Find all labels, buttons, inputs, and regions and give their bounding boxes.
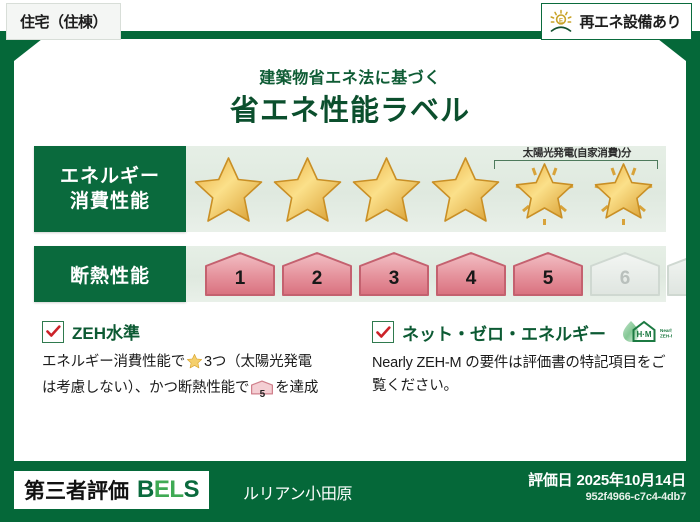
nearly-zeh-m-logo-icon: H·M Nearly ZEH-M bbox=[620, 319, 672, 345]
energy-performance-row-header: エネルギー 消費性能 bbox=[34, 146, 186, 232]
energy-performance-label-card: 住宅（住棟） E 再エネ設備あり 建築物省エネ法に基 bbox=[0, 0, 700, 522]
evaluation-id: 952f4966-c7c4-4db7 bbox=[586, 491, 686, 503]
building-name: ルリアン小田原 bbox=[243, 480, 352, 504]
criteria-zeh-standard: ZEH水準 エネルギー消費性能で3つ（太陽光発電は考慮しない）、かつ断熱性能で5… bbox=[42, 319, 352, 400]
criteria-nze-header: ネット・ゼロ・エネルギー H·M Nearly ZEH-M bbox=[372, 319, 672, 345]
criteria-nze-body: Nearly ZEH-M の要件は評価書の特記項目をご覧ください。 bbox=[372, 352, 672, 398]
checkbox-checked-icon bbox=[372, 321, 394, 343]
bels-jp-label: 第三者評価 bbox=[24, 475, 129, 505]
sun-solar-icon: E bbox=[548, 9, 574, 35]
label-sheet: 建築物省エネ法に基づく 省エネ性能ラベル エネルギー 消費性能 太陽光発電(自家… bbox=[14, 39, 686, 461]
star-filled bbox=[427, 152, 504, 226]
bels-letter-b: B bbox=[137, 476, 154, 503]
label-subtitle: 建築物省エネ法に基づく bbox=[14, 64, 686, 88]
criteria-zeh-text-2: 3つ（太陽光発電 bbox=[204, 354, 312, 370]
building-type-label: 住宅（住棟） bbox=[20, 11, 107, 32]
bels-third-party-box: 第三者評価 BELS bbox=[14, 471, 209, 509]
insulation-badge: 4 bbox=[435, 251, 507, 297]
renewable-equipment-pill: E 再エネ設備あり bbox=[541, 3, 692, 40]
renewable-equipment-label: 再エネ設備あり bbox=[579, 11, 681, 32]
criteria-zeh-header: ZEH水準 bbox=[42, 319, 352, 344]
star-filled bbox=[269, 152, 346, 226]
building-type-pill: 住宅（住棟） bbox=[6, 3, 121, 40]
bels-letter-s: S bbox=[184, 476, 200, 503]
star-filled bbox=[348, 152, 425, 226]
inline-insulation-badge-icon: 5 bbox=[251, 379, 273, 396]
insulation-badge-group: 1 2 3 4 bbox=[186, 246, 666, 302]
criteria-zeh-text-4: を達成 bbox=[275, 380, 318, 396]
bels-en-logo: BELS bbox=[137, 476, 199, 504]
evaluation-date: 評価日 2025年10月14日 bbox=[528, 469, 686, 490]
insulation-badge: 5 bbox=[512, 251, 584, 297]
label-title: 省エネ性能ラベル bbox=[14, 87, 686, 129]
checkbox-checked-icon bbox=[42, 321, 64, 343]
criteria-zeh-title: ZEH水準 bbox=[72, 319, 140, 344]
solar-contribution-bracket bbox=[494, 160, 658, 169]
criteria-net-zero-energy: ネット・ゼロ・エネルギー H·M Nearly ZEH-M bbox=[372, 319, 672, 398]
energy-performance-row: エネルギー 消費性能 太陽光発電(自家消費)分 bbox=[34, 146, 666, 232]
label-footer: 第三者評価 BELS ルリアン小田原 評価日 2025年10月14日 952f4… bbox=[0, 461, 700, 522]
star-filled bbox=[190, 152, 267, 226]
svg-text:Nearly: Nearly bbox=[660, 328, 672, 333]
insulation-performance-row-header: 断熱性能 bbox=[34, 246, 186, 302]
inline-star-icon bbox=[186, 353, 203, 377]
svg-text:E: E bbox=[559, 18, 563, 24]
energy-header-line2: 消費性能 bbox=[70, 189, 150, 214]
energy-performance-row-body: 太陽光発電(自家消費)分 bbox=[186, 146, 666, 232]
insulation-badge: 7 bbox=[666, 251, 700, 297]
energy-header-line1: エネルギー bbox=[60, 164, 160, 189]
insulation-header-label: 断熱性能 bbox=[70, 261, 150, 288]
insulation-performance-row: 断熱性能 bbox=[34, 246, 666, 302]
criteria-zeh-text-3: は考慮しない）、かつ断熱性能で bbox=[42, 380, 249, 396]
criteria-zeh-body: エネルギー消費性能で3つ（太陽光発電は考慮しない）、かつ断熱性能で5を達成 bbox=[42, 351, 352, 400]
svg-text:H·M: H·M bbox=[636, 330, 651, 339]
solar-contribution-caption: 太陽光発電(自家消費)分 bbox=[494, 145, 660, 160]
bels-letters-el: EL bbox=[154, 476, 184, 503]
criteria-zeh-text-1: エネルギー消費性能で bbox=[42, 354, 185, 370]
inline-insulation-badge-label: 5 bbox=[251, 383, 273, 406]
insulation-performance-row-body: 1 2 3 4 bbox=[186, 246, 666, 302]
svg-text:ZEH-M: ZEH-M bbox=[660, 334, 672, 339]
insulation-badge: 6 bbox=[589, 251, 661, 297]
criteria-nze-title: ネット・ゼロ・エネルギー bbox=[402, 320, 606, 345]
insulation-badge: 2 bbox=[281, 251, 353, 297]
insulation-badge: 3 bbox=[358, 251, 430, 297]
insulation-badge: 1 bbox=[204, 251, 276, 297]
